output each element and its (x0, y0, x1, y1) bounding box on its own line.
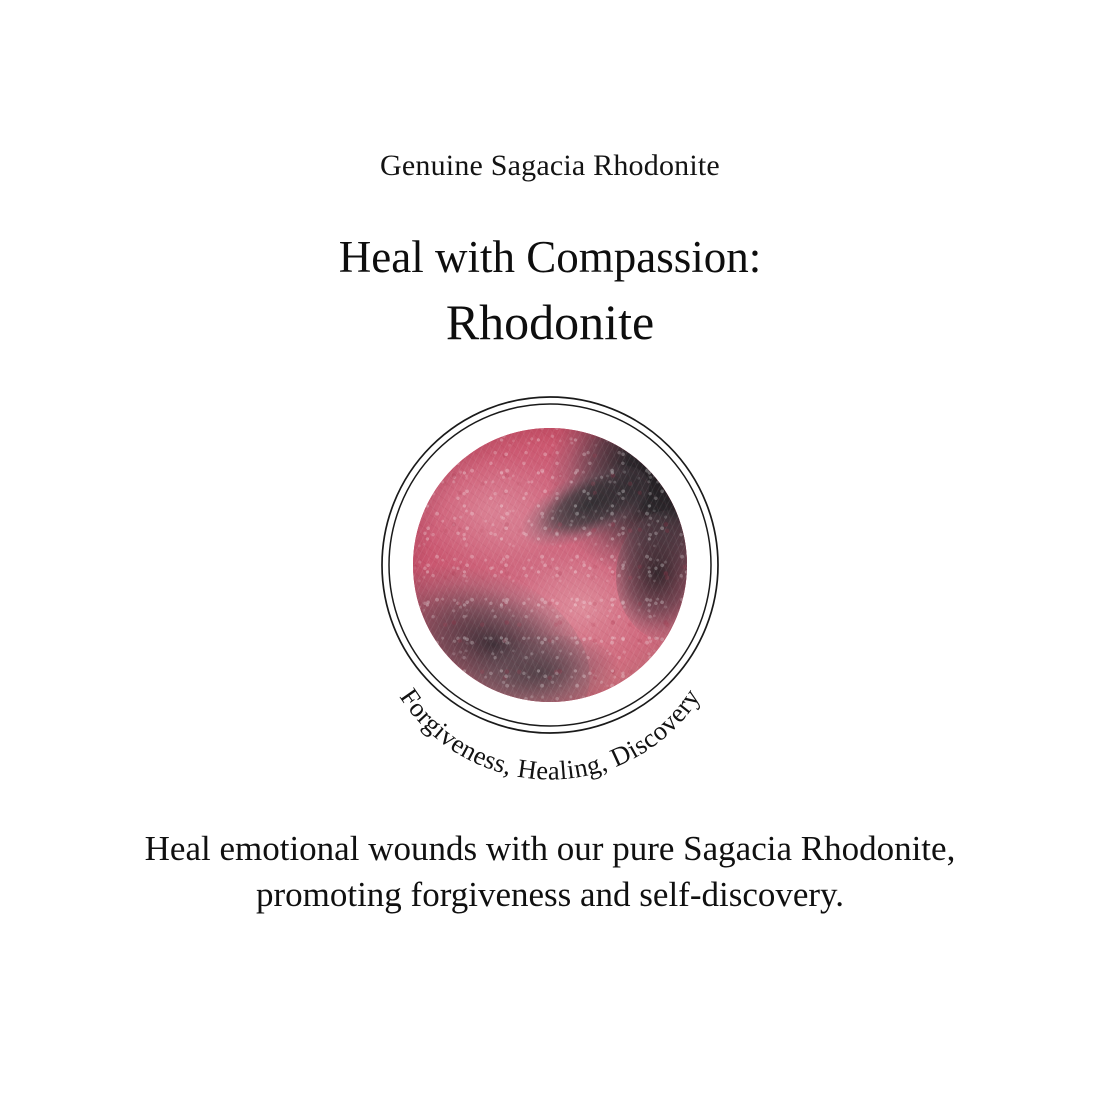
product-card: Genuine Sagacia Rhodonite Heal with Comp… (0, 0, 1100, 1100)
emblem-inner-ring (389, 404, 711, 726)
description-line-2: promoting forgiveness and self-discovery… (50, 872, 1050, 918)
page-title-line-1: Heal with Compassion: (0, 230, 1100, 284)
emblem-arc-text: Forgiveness, Healing, Discovery (394, 683, 706, 786)
page-title-line-2: Rhodonite (0, 292, 1100, 352)
gemstone-emblem: Forgiveness, Healing, Discovery (340, 378, 760, 778)
description-block: Heal emotional wounds with our pure Saga… (50, 826, 1050, 918)
eyebrow-text: Genuine Sagacia Rhodonite (0, 147, 1100, 185)
description-line-1: Heal emotional wounds with our pure Saga… (50, 826, 1050, 872)
emblem-outer-ring (382, 397, 718, 733)
emblem-rings-and-arc-text: Forgiveness, Healing, Discovery (340, 378, 760, 778)
